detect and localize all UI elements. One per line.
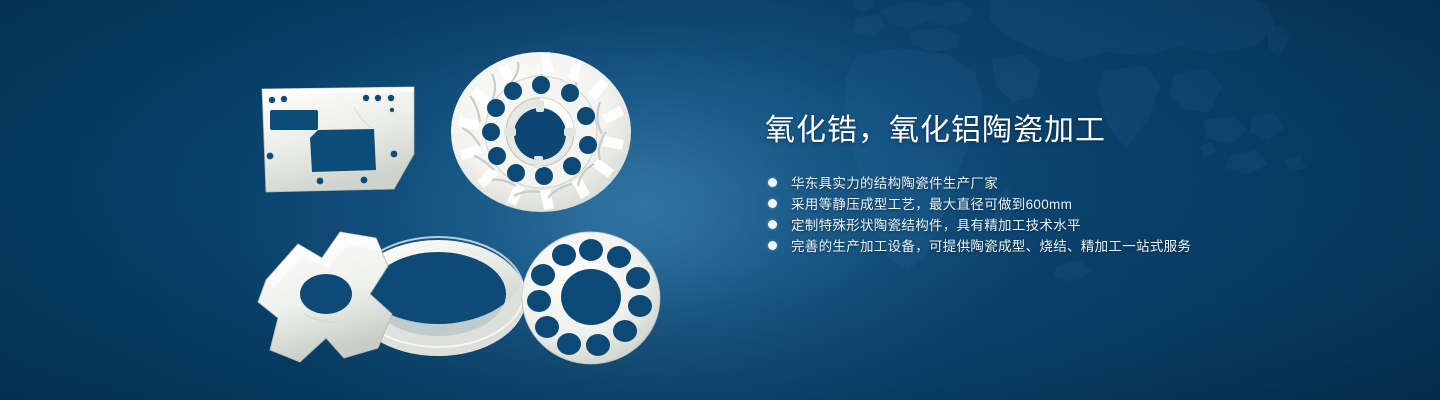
feature-text: 完善的生产加工设备，可提供陶瓷成型、烧结、精加工一站式服务	[791, 235, 1191, 255]
hero-banner: 氧化锆，氧化铝陶瓷加工 华东具实力的结构陶瓷件生产厂家 采用等静压成型工艺，最大…	[0, 0, 1440, 400]
list-item: 采用等静压成型工艺，最大直径可做到600mm	[768, 193, 1385, 214]
banner-headline: 氧化锆，氧化铝陶瓷加工	[765, 112, 1385, 150]
bullet-dot-icon	[768, 241, 777, 250]
ceramic-perforated-disc-image	[518, 228, 664, 368]
banner-text-column: 氧化锆，氧化铝陶瓷加工 华东具实力的结构陶瓷件生产厂家 采用等静压成型工艺，最大…	[765, 112, 1385, 256]
ceramic-impeller-image	[448, 48, 634, 214]
feature-text: 定制特殊形状陶瓷结构件，具有精加工技术水平	[791, 214, 1081, 234]
ceramic-cross-and-ring-image	[252, 222, 542, 370]
feature-text: 采用等静压成型工艺，最大直径可做到600mm	[791, 193, 1072, 213]
bullet-dot-icon	[768, 178, 777, 187]
feature-text: 华东具实力的结构陶瓷件生产厂家	[791, 172, 998, 192]
list-item: 定制特殊形状陶瓷结构件，具有精加工技术水平	[768, 214, 1385, 235]
product-image-group	[0, 0, 760, 400]
bullet-dot-icon	[768, 199, 777, 208]
bullet-dot-icon	[768, 220, 777, 229]
list-item: 完善的生产加工设备，可提供陶瓷成型、烧结、精加工一站式服务	[768, 235, 1385, 256]
list-item: 华东具实力的结构陶瓷件生产厂家	[768, 172, 1385, 193]
ceramic-plate-image	[258, 82, 418, 197]
feature-list: 华东具实力的结构陶瓷件生产厂家 采用等静压成型工艺，最大直径可做到600mm 定…	[768, 172, 1385, 256]
